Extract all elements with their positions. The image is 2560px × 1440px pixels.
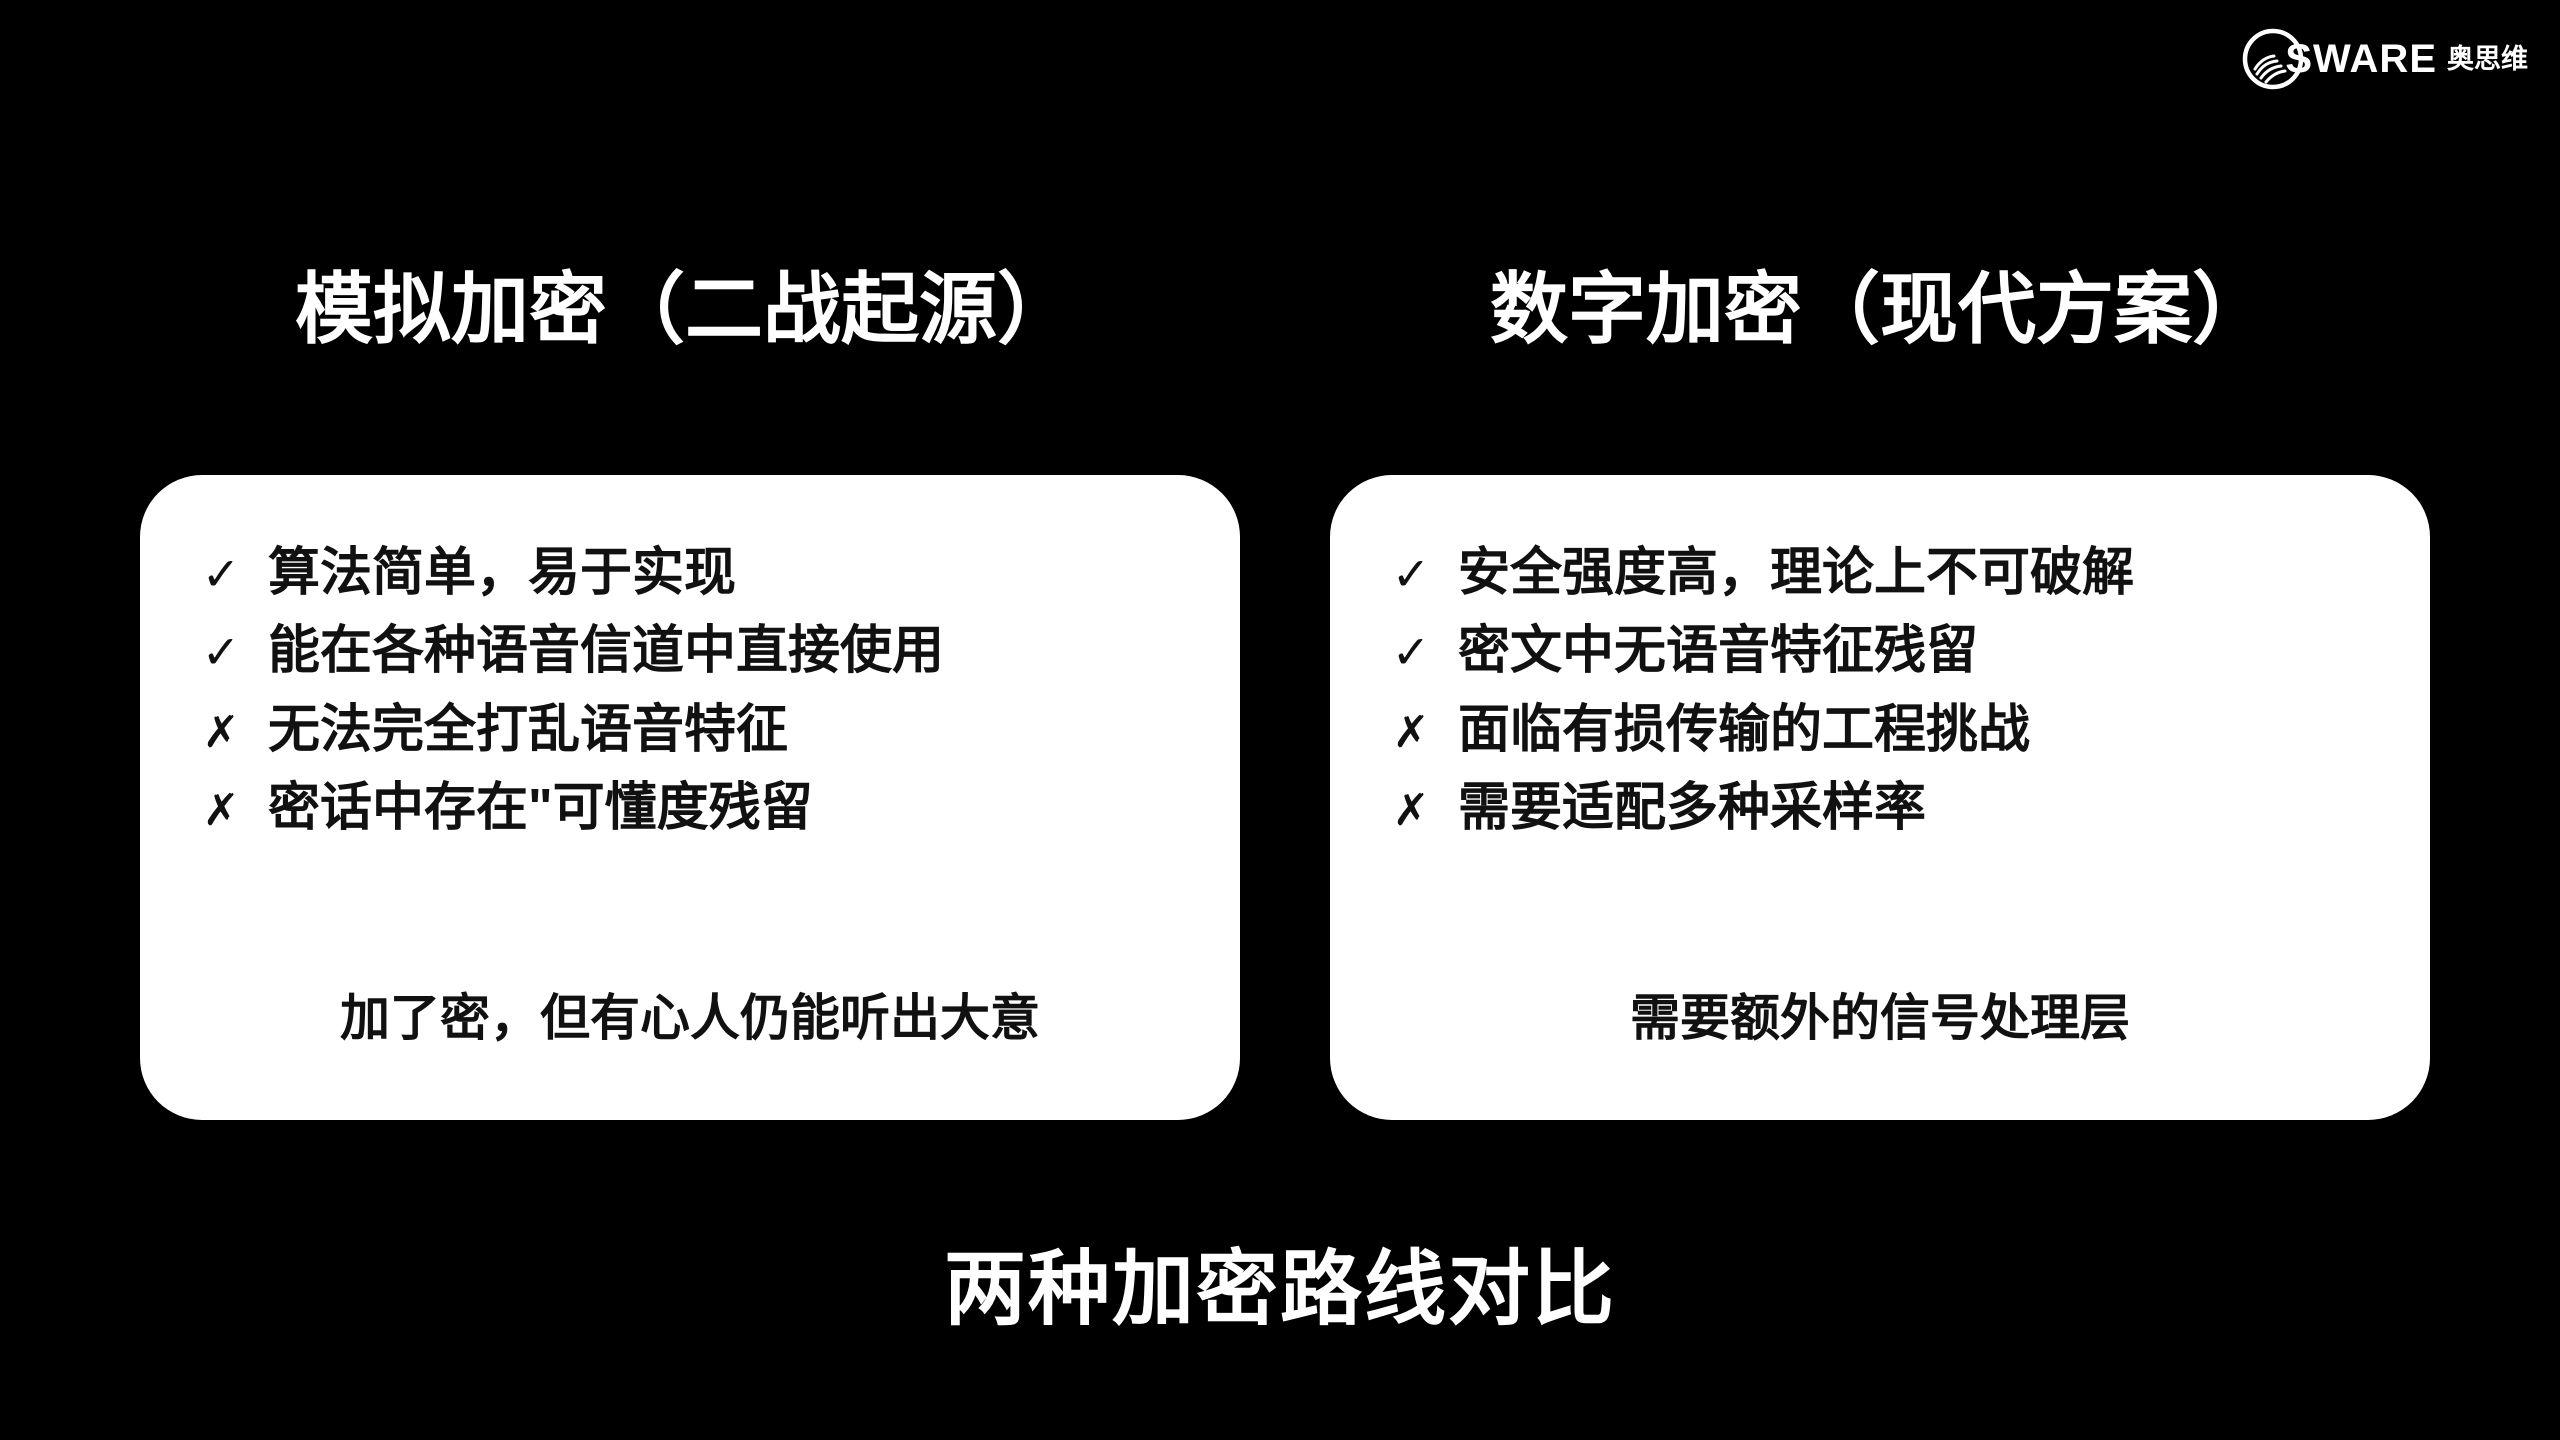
cross-icon: ✗ [200, 785, 242, 837]
card-digital: ✓ 安全强度高，理论上不可破解 ✓ 密文中无语音特征残留 ✗ 面临有损传输的工程… [1330, 475, 2430, 1120]
list-item-label: 算法简单，易于实现 [268, 543, 736, 604]
cross-icon: ✗ [1390, 785, 1432, 837]
list-item: ✓ 密文中无语音特征残留 [1390, 621, 2370, 682]
column-heading-digital: 数字加密（现代方案） [1330, 255, 2430, 365]
card-analog: ✓ 算法简单，易于实现 ✓ 能在各种语音信道中直接使用 ✗ 无法完全打乱语音特征… [140, 475, 1240, 1120]
list-item-label: 无法完全打乱语音特征 [268, 700, 788, 761]
list-item-label: 密话中存在"可懂度残留 [268, 778, 813, 839]
list-item: ✗ 密话中存在"可懂度残留 [200, 778, 1180, 839]
list-item-label: 面临有损传输的工程挑战 [1458, 700, 2030, 761]
feature-list-digital: ✓ 安全强度高，理论上不可破解 ✓ 密文中无语音特征残留 ✗ 面临有损传输的工程… [1390, 543, 2370, 839]
card-note-digital: 需要额外的信号处理层 [1390, 988, 2370, 1074]
cross-icon: ✗ [200, 707, 242, 759]
list-item: ✓ 能在各种语音信道中直接使用 [200, 621, 1180, 682]
check-icon: ✓ [200, 547, 242, 601]
list-item-label: 安全强度高，理论上不可破解 [1458, 543, 2134, 604]
column-heading-analog: 模拟加密（二战起源） [140, 255, 1230, 365]
check-icon: ✓ [1390, 625, 1432, 679]
list-item: ✗ 需要适配多种采样率 [1390, 778, 2370, 839]
list-item-label: 能在各种语音信道中直接使用 [268, 621, 944, 682]
check-icon: ✓ [1390, 547, 1432, 601]
check-icon: ✓ [200, 625, 242, 679]
list-item: ✗ 面临有损传输的工程挑战 [1390, 700, 2370, 761]
card-note-analog: 加了密，但有心人仍能听出大意 [200, 988, 1180, 1074]
cross-icon: ✗ [1390, 707, 1432, 759]
comparison-columns: 模拟加密（二战起源） ✓ 算法简单，易于实现 ✓ 能在各种语音信道中直接使用 ✗… [0, 0, 2560, 1440]
column-analog: 模拟加密（二战起源） ✓ 算法简单，易于实现 ✓ 能在各种语音信道中直接使用 ✗… [140, 255, 1270, 1120]
list-item-label: 密文中无语音特征残留 [1458, 621, 1978, 682]
list-item: ✗ 无法完全打乱语音特征 [200, 700, 1180, 761]
list-item: ✓ 安全强度高，理论上不可破解 [1390, 543, 2370, 604]
slide-caption: 两种加密路线对比 [0, 1245, 2560, 1335]
list-item: ✓ 算法简单，易于实现 [200, 543, 1180, 604]
feature-list-analog: ✓ 算法简单，易于实现 ✓ 能在各种语音信道中直接使用 ✗ 无法完全打乱语音特征… [200, 543, 1180, 839]
list-item-label: 需要适配多种采样率 [1458, 778, 1926, 839]
column-digital: 数字加密（现代方案） ✓ 安全强度高，理论上不可破解 ✓ 密文中无语音特征残留 … [1330, 255, 2460, 1120]
